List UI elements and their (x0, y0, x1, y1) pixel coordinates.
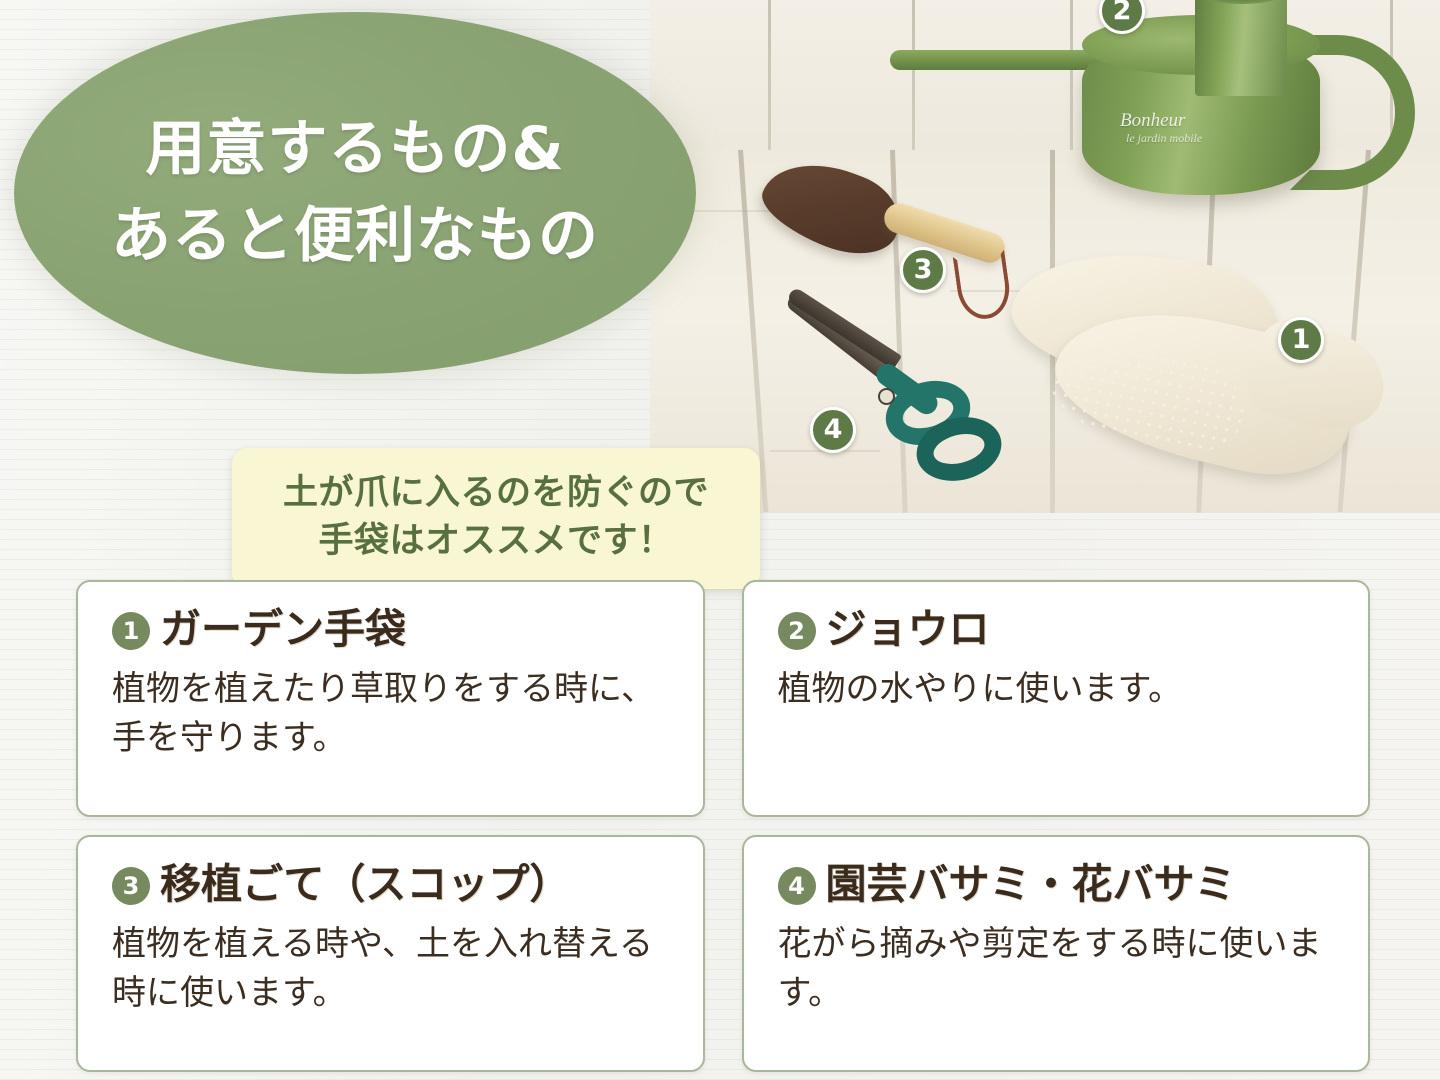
card-2-heading: ジョウロ (824, 608, 994, 653)
title-ellipse: 用意するもの& あると便利なもの (14, 12, 696, 374)
card-2-body: 植物の水やりに使います。 (778, 665, 1337, 714)
title-line-1: 用意するもの& (145, 106, 564, 193)
tip-speech-bubble: 土が爪に入るのを防ぐので 手袋はオススメです！ (232, 448, 760, 589)
photo-marker-1: 1 (1278, 317, 1324, 363)
tip-line-2: 手袋はオススメです！ (242, 518, 750, 566)
tip-line-1: 土が爪に入るのを防ぐので (242, 470, 750, 518)
card-3-heading: 移植ごて（スコップ） (158, 863, 574, 908)
item-cards-grid: 1 ガーデン手袋 植物を植えたり草取りをする時に、手を守ります。 2 ジョウロ … (76, 580, 1370, 1072)
watering-can-brand: Bonheur le jardin mobile (1120, 110, 1202, 146)
gardening-tools-photo: Bonheur le jardin mobile (650, 0, 1440, 513)
card-4-heading: 園芸バサミ・花バサミ (824, 863, 1240, 908)
card-1-body: 植物を植えたり草取りをする時に、手を守ります。 (112, 665, 671, 763)
item-card-2[interactable]: 2 ジョウロ 植物の水やりに使います。 (742, 580, 1371, 817)
card-1-number-badge: 1 (112, 612, 150, 650)
card-4-body: 花がら摘みや剪定をする時に使います。 (778, 920, 1337, 1018)
item-card-4[interactable]: 4 園芸バサミ・花バサミ 花がら摘みや剪定をする時に使います。 (742, 835, 1371, 1072)
card-4-title-row: 4 園芸バサミ・花バサミ (778, 863, 1337, 908)
card-1-heading: ガーデン手袋 (158, 608, 410, 653)
card-3-number-badge: 3 (112, 867, 150, 905)
card-2-number-badge: 2 (778, 612, 816, 650)
item-card-1[interactable]: 1 ガーデン手袋 植物を植えたり草取りをする時に、手を守ります。 (76, 580, 705, 817)
card-1-title-row: 1 ガーデン手袋 (112, 608, 671, 653)
photo-marker-3: 3 (900, 247, 946, 293)
card-4-number-badge: 4 (778, 867, 816, 905)
card-3-body: 植物を植える時や、土を入れ替える時に使います。 (112, 920, 671, 1018)
photo-marker-4: 4 (810, 407, 856, 453)
item-card-3[interactable]: 3 移植ごて（スコップ） 植物を植える時や、土を入れ替える時に使います。 (76, 835, 705, 1072)
card-2-title-row: 2 ジョウロ (778, 608, 1337, 653)
title-line-2: あると便利なもの (111, 193, 599, 280)
card-3-title-row: 3 移植ごて（スコップ） (112, 863, 671, 908)
infographic-page: Bonheur le jardin mobile (0, 0, 1440, 1080)
